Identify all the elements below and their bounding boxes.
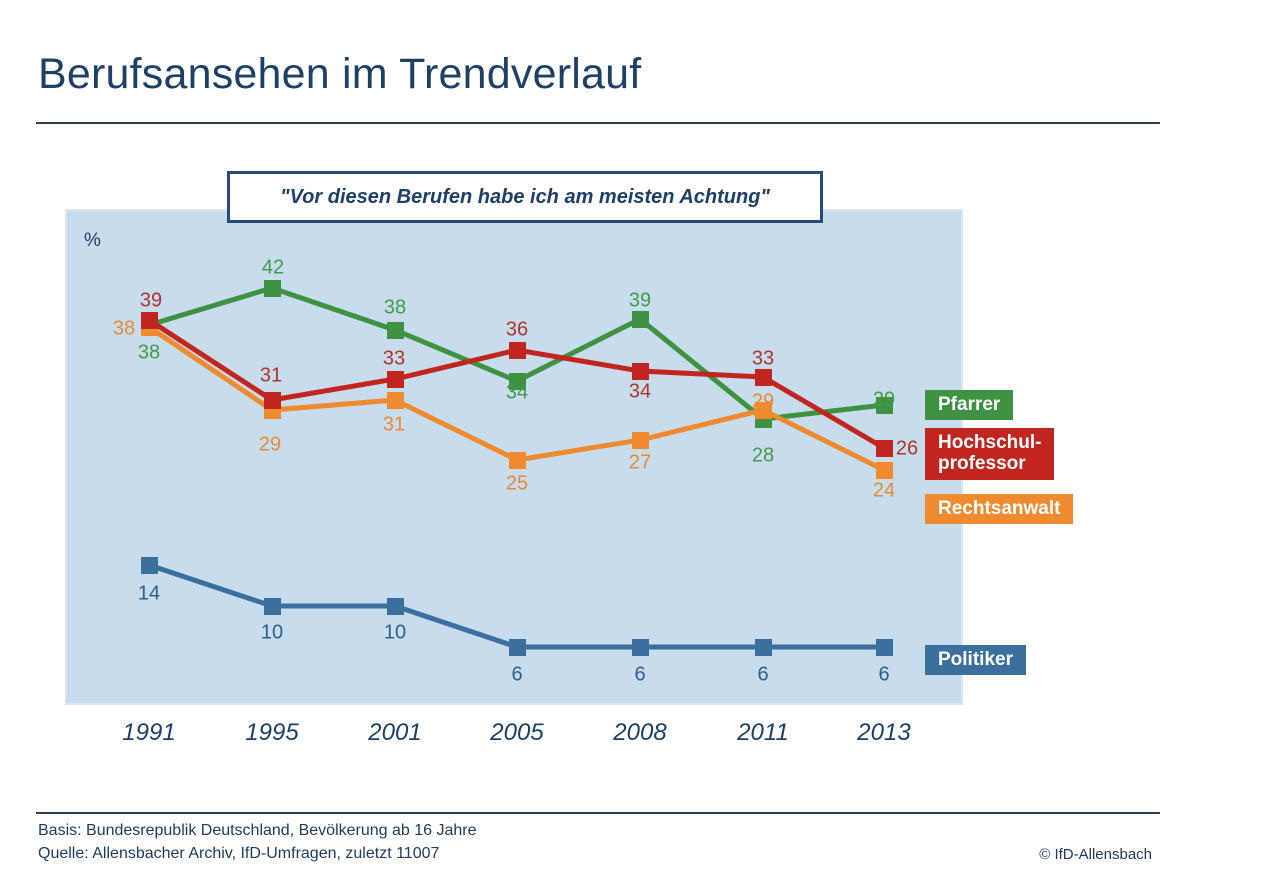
- value-label-politiker-2011: 6: [757, 664, 768, 687]
- value-label-pfarrer-1995: 42: [262, 257, 284, 280]
- x-axis-tick-1995: 1995: [245, 719, 298, 747]
- value-label-pfarrer-2001: 38: [384, 297, 406, 320]
- legend-item-rechtsanwalt: Rechtsanwalt: [925, 494, 1073, 524]
- legend-item-politiker: Politiker: [925, 645, 1026, 675]
- legend-label-rechtsanwalt: Rechtsanwalt: [938, 498, 1060, 519]
- value-label-politiker-2008: 6: [634, 664, 645, 687]
- value-label-professor-2008: 34: [629, 381, 651, 404]
- value-label-professor-1995: 31: [260, 365, 282, 388]
- subtitle-callout: "Vor diesen Berufen habe ich am meisten …: [227, 171, 823, 223]
- value-label-pfarrer-2008: 39: [629, 290, 651, 313]
- value-label-pfarrer-2005: 34: [506, 382, 528, 405]
- x-axis-tick-2011: 2011: [737, 719, 789, 747]
- legend-item-pfarrer: Pfarrer: [925, 390, 1013, 420]
- footer-quelle: Quelle: Allensbacher Archiv, IfD-Umfrage…: [38, 843, 477, 866]
- x-axis-tick-2005: 2005: [490, 719, 543, 747]
- x-axis-tick-1991: 1991: [122, 719, 175, 747]
- value-label-professor-1991: 39: [140, 290, 162, 313]
- value-label-anwalt-1995: 29: [259, 434, 281, 457]
- value-label-politiker-1991: 14: [138, 583, 160, 606]
- value-label-politiker-1995: 10: [261, 622, 283, 645]
- title-divider: [36, 122, 1160, 124]
- slide-root: Berufsansehen im Trendverlauf %: [0, 0, 1280, 871]
- subtitle-text: "Vor diesen Berufen habe ich am meisten …: [280, 186, 770, 209]
- x-axis-tick-2008: 2008: [613, 719, 666, 747]
- value-label-professor-2011: 33: [752, 348, 774, 371]
- value-label-professor-2001: 33: [383, 348, 405, 371]
- page-title: Berufsansehen im Trendverlauf: [38, 50, 641, 99]
- value-label-anwalt-2011: 29: [752, 391, 774, 414]
- value-label-politiker-2013: 6: [878, 664, 889, 687]
- value-label-politiker-2001: 10: [384, 622, 406, 645]
- y-axis-unit-label: %: [84, 230, 101, 252]
- value-label-anwalt-1991: 38: [113, 318, 135, 341]
- copyright-notice: © IfD-Allensbach: [1039, 846, 1152, 863]
- value-label-pfarrer-1991: 38: [138, 342, 160, 365]
- chart-plot-area: [65, 209, 963, 705]
- x-axis-tick-2001: 2001: [368, 719, 421, 747]
- footer-divider: [36, 812, 1160, 814]
- footer-basis: Basis: Bundesrepublik Deutschland, Bevöl…: [38, 820, 477, 843]
- value-label-pfarrer-2011: 28: [752, 445, 774, 468]
- legend-label-hochschulprofessor-line2: professor: [938, 453, 1041, 474]
- value-label-professor-2013: 26: [896, 438, 918, 461]
- value-label-anwalt-2013: 24: [873, 480, 895, 503]
- value-label-anwalt-2008: 27: [629, 452, 651, 475]
- legend-label-pfarrer: Pfarrer: [938, 394, 1000, 415]
- value-label-professor-2005: 36: [506, 319, 528, 342]
- value-label-politiker-2005: 6: [511, 664, 522, 687]
- value-label-pfarrer-2013: 29: [873, 389, 895, 412]
- value-label-anwalt-2001: 31: [383, 414, 405, 437]
- footer-notes: Basis: Bundesrepublik Deutschland, Bevöl…: [38, 820, 477, 865]
- legend-label-hochschulprofessor-line1: Hochschul-: [938, 432, 1041, 453]
- value-label-anwalt-2005: 25: [506, 473, 528, 496]
- legend-item-hochschulprofessor: Hochschul- professor: [925, 428, 1054, 480]
- x-axis-tick-2013: 2013: [857, 719, 910, 747]
- legend-label-politiker: Politiker: [938, 649, 1013, 670]
